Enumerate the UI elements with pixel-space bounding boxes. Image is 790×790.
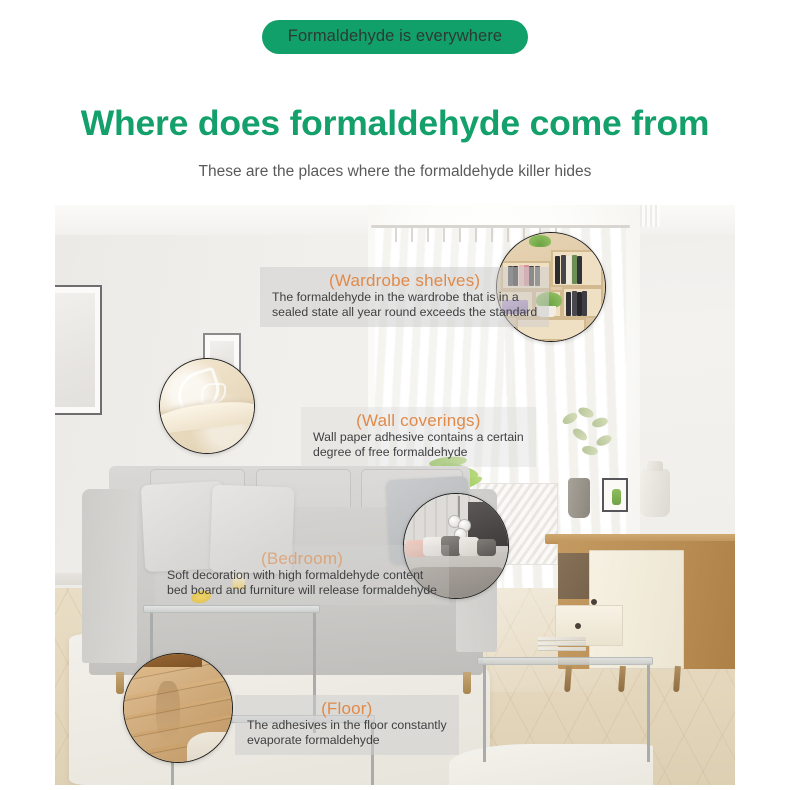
badge-container: Formaldehyde is everywhere: [0, 20, 790, 54]
plant-branch-sideboard: [558, 408, 628, 468]
sofa-arm-left: [82, 489, 136, 663]
glass-console-table: [477, 657, 654, 665]
sofa-leg: [463, 672, 471, 694]
page-title: Where does formaldehyde come from: [0, 103, 790, 144]
callout-band: (Wardrobe shelves) The formaldehyde in t…: [260, 267, 549, 327]
callout-wardrobe-shelves: (Wardrobe shelves) The formaldehyde in t…: [260, 267, 549, 327]
living-room-interior-photo: (Wardrobe shelves) The formaldehyde in t…: [55, 205, 735, 785]
stoneware-vase: [568, 478, 590, 518]
sideboard-drawer-knob[interactable]: [575, 623, 581, 629]
console-table-frame: [483, 663, 486, 762]
rug-edge: [187, 732, 233, 763]
callout-title: (Bedroom): [167, 549, 437, 568]
callout-desc-line2: sealed state all year round exceeds the …: [272, 305, 537, 320]
wall-covering-photo: [159, 358, 255, 454]
callout-desc-line1: The adhesives in the floor constantly: [247, 718, 447, 733]
stacked-books: [538, 637, 586, 653]
callout-band: (Floor) The adhesives in the floor const…: [235, 695, 459, 755]
floor-shadow-band: [137, 653, 202, 667]
callout-desc-line1: Wall paper adhesive contains a certain: [313, 430, 524, 445]
callout-band: (Bedroom) Soft decoration with high form…: [155, 545, 449, 605]
botanical-picture-frame: [602, 478, 628, 512]
console-table-frame: [647, 663, 650, 762]
white-pillow: [459, 537, 479, 557]
callout-bedroom: (Bedroom) Soft decoration with high form…: [155, 545, 449, 605]
page-subtitle: These are the places where the formaldeh…: [0, 163, 790, 181]
dark-pillow: [477, 539, 496, 557]
callout-band: (Wall coverings) Wall paper adhesive con…: [301, 407, 536, 467]
white-ceramic-vase: [640, 469, 670, 517]
callout-title: (Wall coverings): [313, 411, 524, 430]
floor-photo: [123, 653, 233, 763]
callout-desc-line2: bed board and furniture will release for…: [167, 583, 437, 598]
shag-rug-secondary: [449, 744, 653, 785]
callout-floor: (Floor) The adhesives in the floor const…: [235, 695, 459, 755]
top-plant: [529, 235, 551, 247]
sofa-leg: [116, 672, 124, 694]
callout-desc-line1: Soft decoration with high formaldehyde c…: [167, 568, 437, 583]
infographic-page: Formaldehyde is everywhere Where does fo…: [0, 0, 790, 790]
callout-title: (Wardrobe shelves): [272, 271, 537, 290]
callout-wall-coverings: (Wall coverings) Wall paper adhesive con…: [301, 407, 536, 467]
glass-side-table: [143, 605, 320, 613]
callout-title: (Floor): [247, 699, 447, 718]
topic-badge: Formaldehyde is everywhere: [262, 20, 528, 54]
callout-desc-line2: degree of free formaldehyde: [313, 445, 524, 460]
callout-desc-line2: evaporate formaldehyde: [247, 733, 447, 748]
wood-grain: [156, 681, 180, 740]
wall-picture-frame-large: [55, 285, 102, 415]
callout-desc-line1: The formaldehyde in the wardrobe that is…: [272, 290, 537, 305]
